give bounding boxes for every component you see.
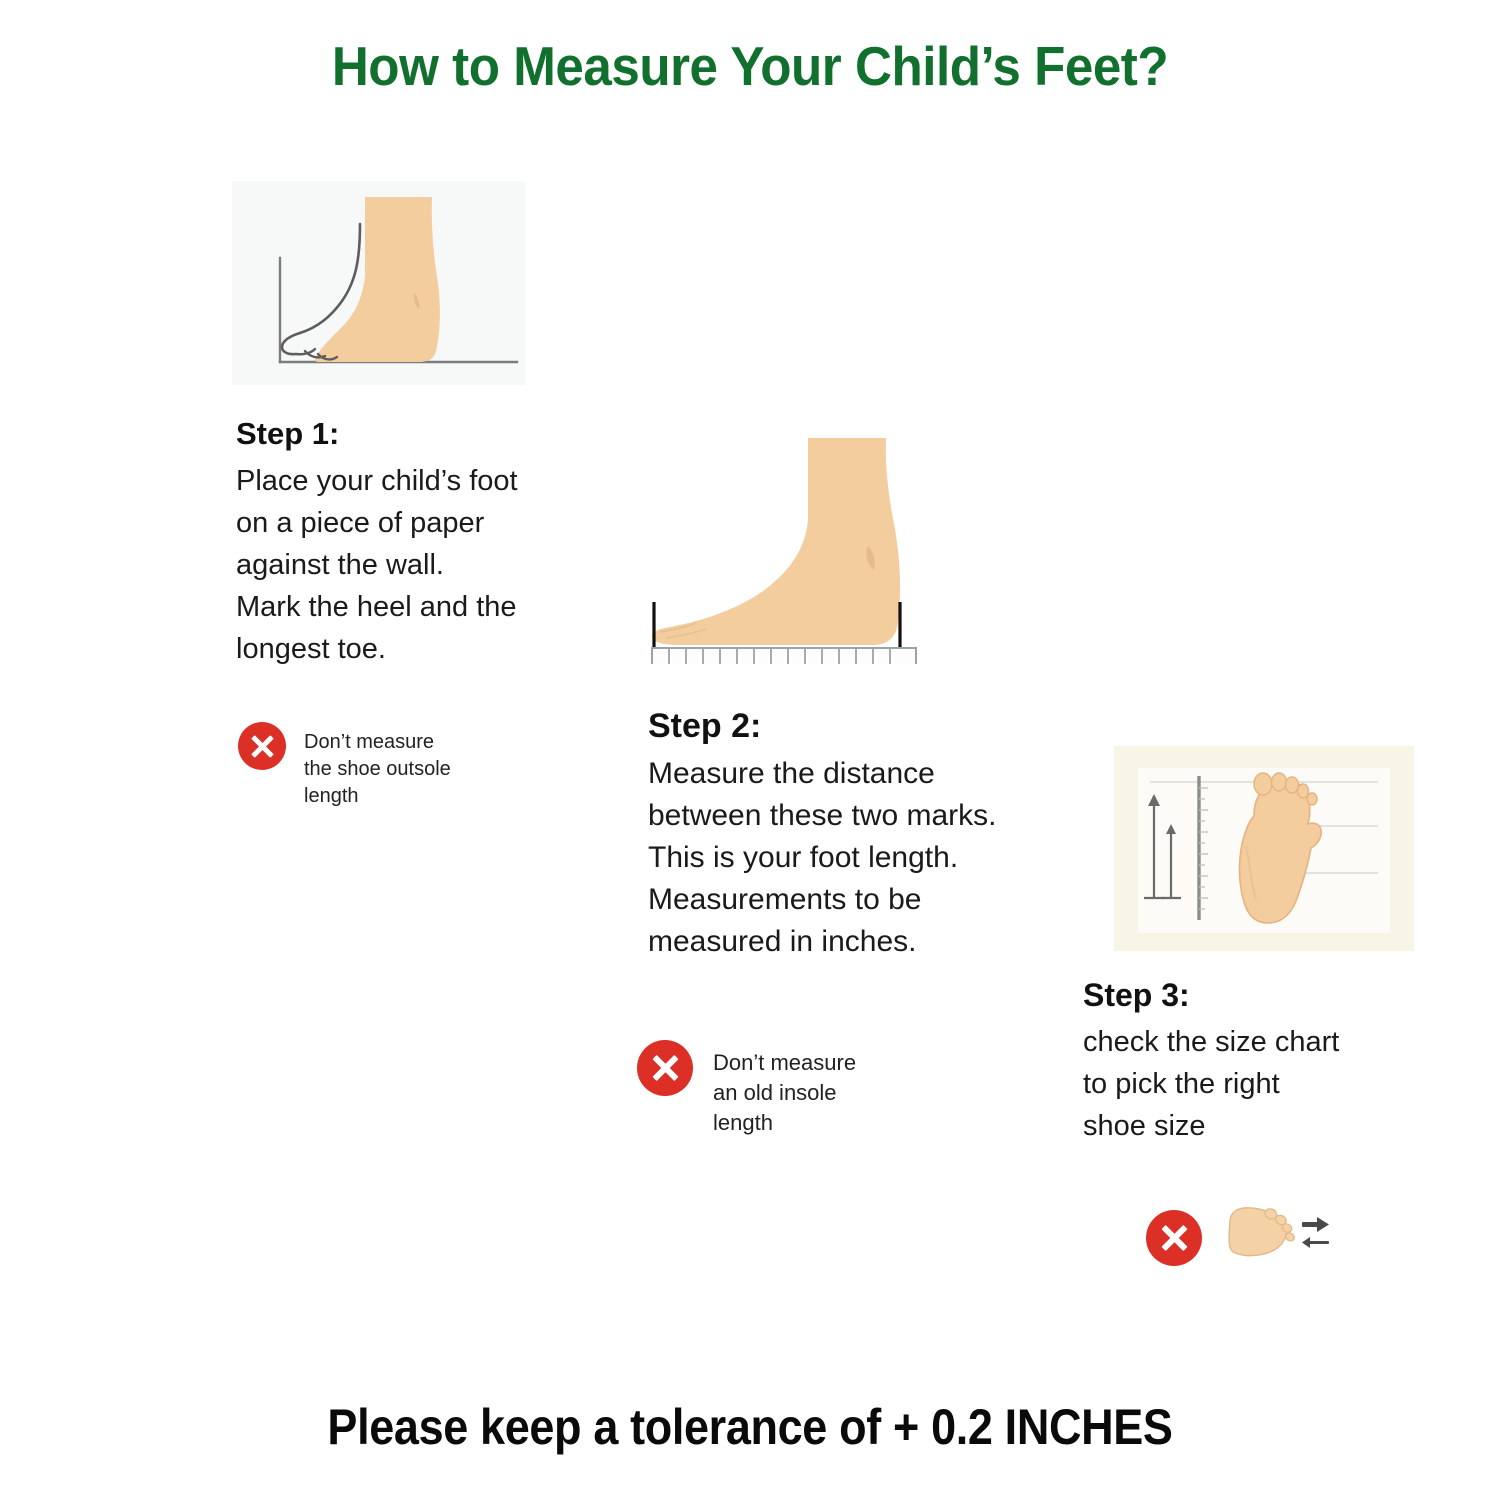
step-1-line-5: longest toe.: [236, 628, 566, 670]
step-3-line-1: check the size chart: [1083, 1021, 1423, 1063]
page-title: How to Measure Your Child’s Feet?: [53, 34, 1448, 98]
step-2-line-1: Measure the distance: [648, 753, 1088, 795]
step-3-illustration: [1114, 746, 1414, 951]
step-1-line-3: against the wall.: [236, 544, 566, 586]
step-1-body: Place your child’s foot on a piece of pa…: [236, 460, 566, 670]
step-2-line-5: measured in inches.: [648, 921, 1088, 963]
step-3-heading: Step 3:: [1083, 973, 1423, 1017]
step-2-warning: Don’t measure an old insole length: [637, 1040, 856, 1138]
step-1-warning: Don’t measure the shoe outsole length: [238, 722, 451, 810]
step-2-heading: Step 2:: [648, 703, 1088, 749]
step-1-heading: Step 1:: [236, 414, 566, 454]
foot-sole-with-arrows-icon: [1224, 1204, 1334, 1271]
red-x-circle-icon: [637, 1040, 693, 1096]
step-3-text-block: Step 3: check the size chart to pick the…: [1083, 973, 1423, 1147]
step-3-warning: [1146, 1204, 1334, 1271]
red-x-circle-icon: [238, 722, 286, 770]
step-1-line-4: Mark the heel and the: [236, 586, 566, 628]
step-1-line-2: on a piece of paper: [236, 502, 566, 544]
step-3-line-2: to pick the right: [1083, 1063, 1423, 1105]
step-2-illustration: [636, 424, 946, 664]
infographic-canvas: How to Measure Your Child’s Feet? Step 1…: [0, 0, 1500, 1496]
step-1-illustration: [232, 181, 525, 385]
foot-sole-top-view-with-vertical-ruler-icon: [1138, 768, 1390, 933]
step-2-line-3: This is your foot length.: [648, 837, 1088, 879]
step-1-warning-text: Don’t measure the shoe outsole length: [304, 729, 451, 810]
step-3-line-3: shoe size: [1083, 1105, 1423, 1147]
foot-side-view-against-wall-icon: [232, 181, 525, 385]
step-2-line-2: between these two marks.: [648, 795, 1088, 837]
step-2-warning-text: Don’t measure an old insole length: [713, 1048, 856, 1138]
step-3-illustration-panel: [1138, 768, 1390, 933]
step-1-text-block: Step 1: Place your child’s foot on a pie…: [236, 414, 566, 670]
tolerance-note: Please keep a tolerance of + 0.2 INCHES: [75, 1398, 1425, 1456]
step-2-text-block: Step 2: Measure the distance between the…: [648, 703, 1088, 963]
red-x-circle-icon: [1146, 1210, 1202, 1266]
step-1-line-1: Place your child’s foot: [236, 460, 566, 502]
step-2-body: Measure the distance between these two m…: [648, 753, 1088, 963]
step-3-body: check the size chart to pick the right s…: [1083, 1021, 1423, 1147]
foot-side-view-with-ruler-icon: [636, 424, 946, 664]
step-2-line-4: Measurements to be: [648, 879, 1088, 921]
